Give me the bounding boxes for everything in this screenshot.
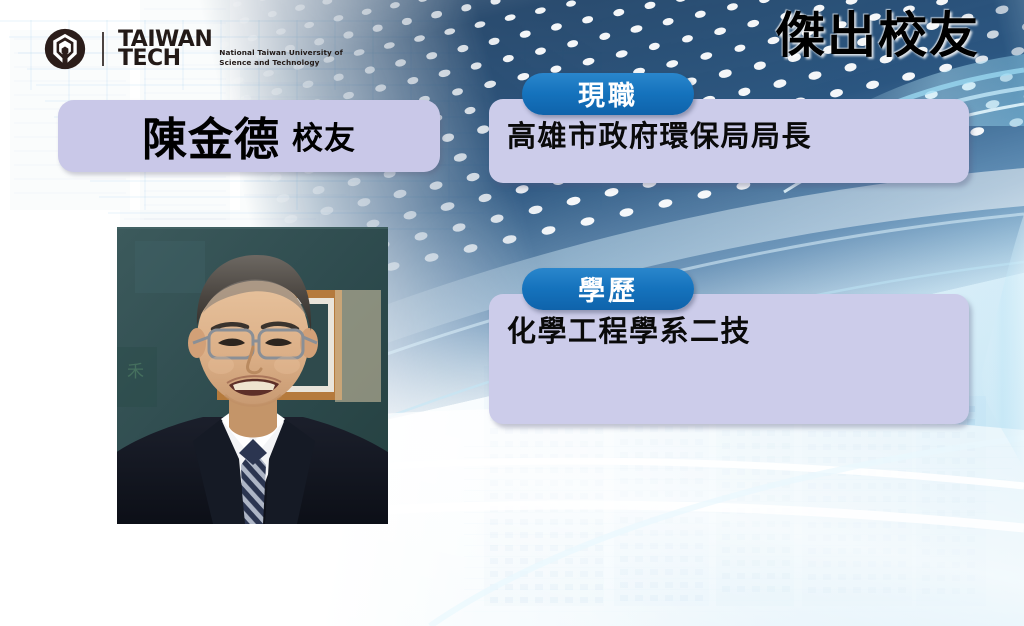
alumnus-name: 陳金德 xyxy=(142,103,280,168)
logo-tech-text: TECH xyxy=(118,49,212,68)
alumnus-name-plate: 陳金德 校友 xyxy=(58,100,440,172)
alumnus-portrait-photo: 禾 xyxy=(117,227,388,524)
slide-canvas: TAIWAN TECH National Taiwan University o… xyxy=(0,0,1024,626)
taiwan-tech-logo: TAIWAN TECH National Taiwan University o… xyxy=(44,25,343,73)
taiwan-tech-hexagon-emblem xyxy=(44,28,86,70)
current-position-text: 高雄市政府環保局局長 xyxy=(507,113,812,155)
logo-subtitle: National Taiwan University of Science an… xyxy=(219,48,343,68)
section-education: 化學工程學系二技 學歷 xyxy=(489,268,989,438)
alumnus-name-suffix: 校友 xyxy=(292,113,356,158)
education-panel: 化學工程學系二技 xyxy=(489,294,969,424)
page-title: 傑出校友 xyxy=(776,9,980,64)
education-text: 化學工程學系二技 xyxy=(507,308,751,350)
svg-text:禾: 禾 xyxy=(127,362,144,382)
section-current-position: 高雄市政府環保局局長 現職 xyxy=(489,73,989,203)
current-position-badge: 現職 xyxy=(522,73,694,115)
logo-divider xyxy=(102,32,104,66)
portrait-illustration: 禾 xyxy=(117,227,388,524)
education-badge: 學歷 xyxy=(522,268,694,310)
